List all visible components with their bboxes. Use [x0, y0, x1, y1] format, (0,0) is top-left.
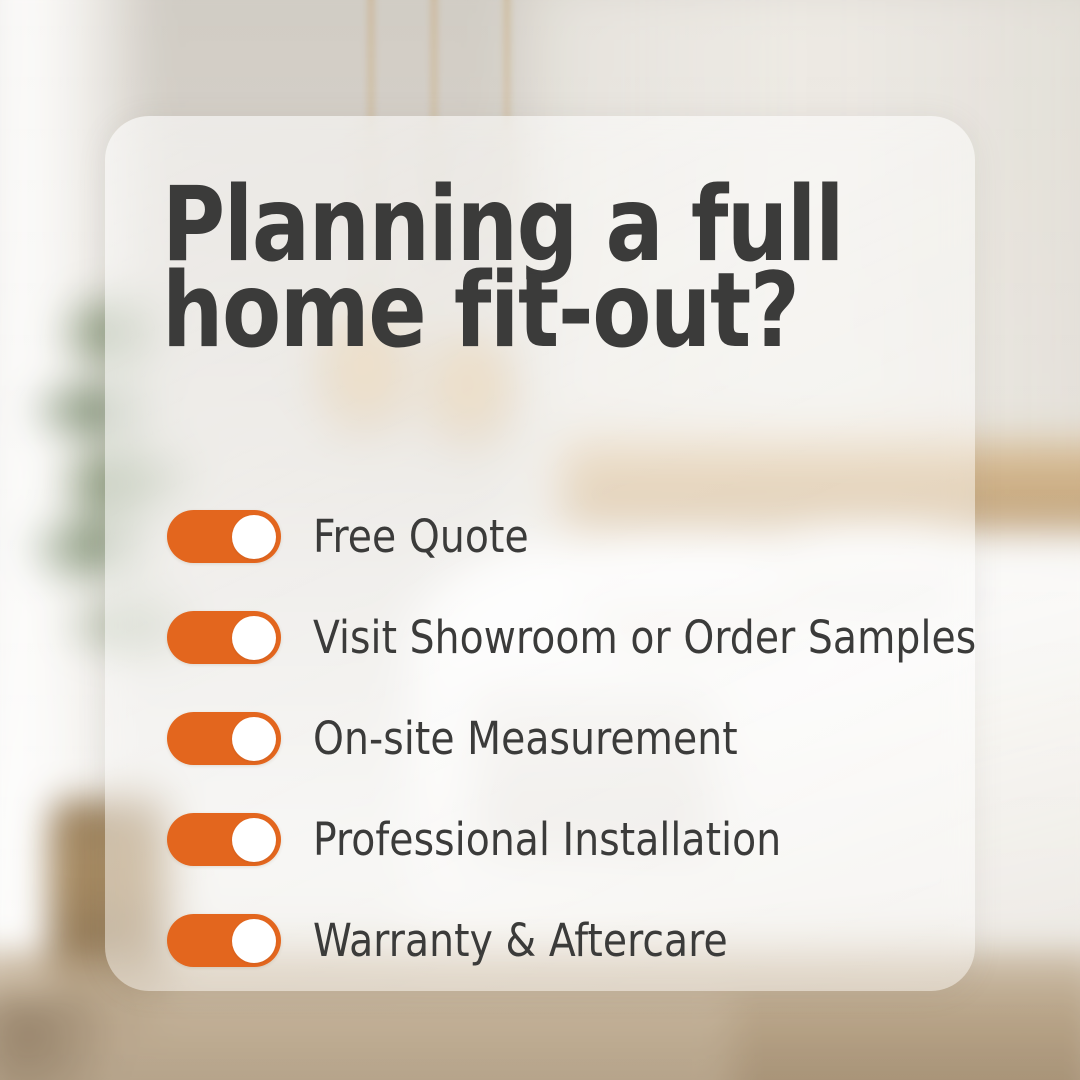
list-item[interactable]: Free Quote: [167, 486, 949, 587]
feature-label: Free Quote: [313, 514, 529, 559]
toggle-knob: [232, 515, 276, 559]
feature-label: Warranty & Aftercare: [313, 918, 728, 963]
list-item[interactable]: On-site Measurement: [167, 688, 949, 789]
toggle-on-icon[interactable]: [167, 510, 281, 563]
toggle-on-icon[interactable]: [167, 813, 281, 866]
promo-graphic: Planning a full home fit-out? Free Quote…: [0, 0, 1080, 1080]
list-item[interactable]: Visit Showroom or Order Samples: [167, 587, 949, 688]
glass-card: Planning a full home fit-out? Free Quote…: [105, 116, 975, 991]
toggle-knob: [232, 717, 276, 761]
toggle-knob: [232, 818, 276, 862]
feature-label: Professional Installation: [313, 817, 781, 862]
feature-toggle-list: Free Quote Visit Showroom or Order Sampl…: [167, 486, 949, 991]
toggle-on-icon[interactable]: [167, 611, 281, 664]
page-title: Planning a full home fit-out?: [162, 174, 894, 354]
card-content: Planning a full home fit-out? Free Quote…: [162, 174, 949, 965]
toggle-knob: [232, 616, 276, 660]
feature-label: On-site Measurement: [313, 716, 738, 761]
list-item[interactable]: Warranty & Aftercare: [167, 890, 949, 991]
toggle-on-icon[interactable]: [167, 914, 281, 967]
feature-label: Visit Showroom or Order Samples: [313, 615, 975, 660]
toggle-on-icon[interactable]: [167, 712, 281, 765]
list-item[interactable]: Professional Installation: [167, 789, 949, 890]
toggle-knob: [232, 919, 276, 963]
